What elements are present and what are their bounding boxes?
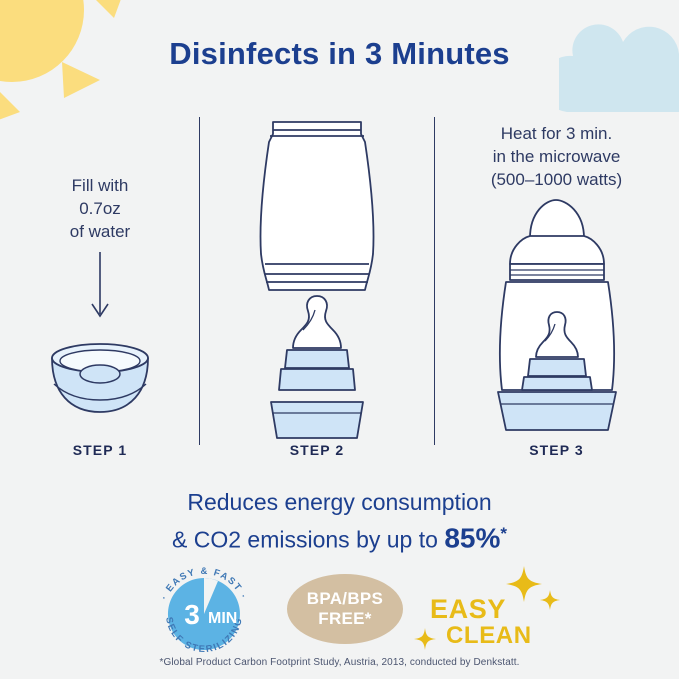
bpa-badge-line-1: BPA/BPS [307,589,383,609]
sparkle-icon [414,628,436,650]
badge-unit: MIN [208,610,237,627]
badges-row: · EASY & FAST · SELF STERILIZING 3 MIN B… [0,562,679,657]
claim-line-2-prefix: & CO2 emissions by up to [172,527,444,553]
bpa-badge-line-2: FREE* [318,609,371,629]
claim-percentage: 85% [444,523,500,554]
step-column-3: Heat for 3 min. in the microwave (500–10… [438,112,675,460]
step-column-1: Fill with 0.7oz of water [4,112,196,460]
assembled-bottle-illustration [438,190,675,442]
claim-line-2: & CO2 emissions by up to 85%* [0,518,679,556]
sparkle-icon [540,590,560,610]
energy-claim: Reduces energy consumption & CO2 emissio… [0,487,679,556]
claim-line-1: Reduces energy consumption [0,487,679,518]
step-1-caption-line-1: Fill with [4,174,196,197]
disassembled-bottle-illustration [203,112,431,442]
step-1-label: STEP 1 [4,442,196,458]
step-3-caption-line-3: (500–1000 watts) [438,168,675,191]
step-column-2: STEP 2 [203,112,431,460]
water-bowl-illustration [4,252,196,427]
step-3-label: STEP 3 [438,442,675,458]
step-1-caption: Fill with 0.7oz of water [4,174,196,243]
column-divider-1 [199,117,200,445]
step-2-label: STEP 2 [203,442,431,458]
three-minute-badge: · EASY & FAST · SELF STERILIZING 3 MIN [152,562,256,657]
sparkle-icon [506,566,542,602]
easy-clean-badge: EASY CLEAN [424,566,560,654]
footnote: *Global Product Carbon Footprint Study, … [0,657,679,668]
claim-footnote-marker: * [500,524,507,543]
easy-clean-line-2: CLEAN [446,622,532,650]
infographic-canvas: Disinfects in 3 Minutes Fill with 0.7oz … [0,0,679,679]
step-3-caption-line-1: Heat for 3 min. [438,122,675,145]
step-1-caption-line-3: of water [4,220,196,243]
step-3-caption: Heat for 3 min. in the microwave (500–10… [438,122,675,191]
bpa-badge-text: BPA/BPS FREE* [287,574,403,644]
badge-value: 3 [184,599,200,630]
steps-row: Fill with 0.7oz of water [0,112,679,460]
step-3-caption-line-2: in the microwave [438,145,675,168]
easy-clean-line-1: EASY [430,594,506,625]
page-title: Disinfects in 3 Minutes [0,36,679,72]
step-1-caption-line-2: 0.7oz [4,197,196,220]
column-divider-2 [434,117,435,445]
bpa-bps-free-badge: BPA/BPS FREE* [287,574,403,644]
